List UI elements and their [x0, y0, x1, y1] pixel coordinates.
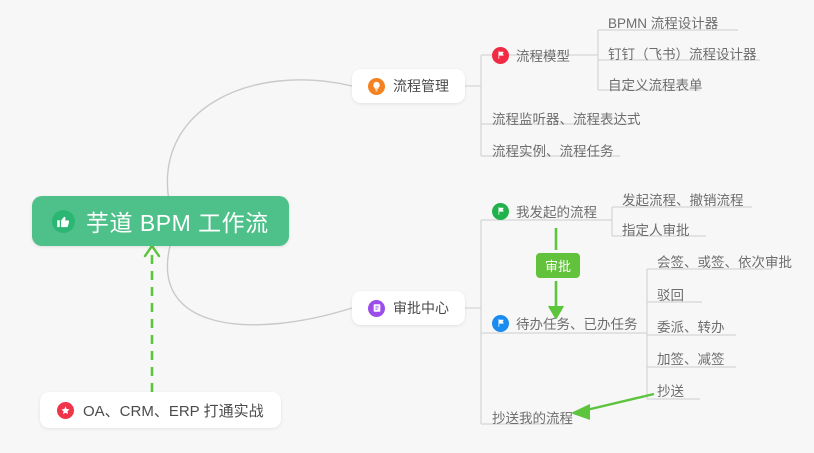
flag-icon [492, 203, 509, 220]
root-node[interactable]: 芋道 BPM 工作流 [32, 196, 289, 246]
node-custom-process-form[interactable]: 自定义流程表单 [606, 71, 705, 97]
node-instance-task[interactable]: 流程实例、流程任务 [490, 137, 616, 163]
node-process-model[interactable]: 流程模型 [490, 42, 572, 68]
dashed-arrow-note-to-root [145, 246, 159, 392]
flag-icon [492, 47, 509, 64]
node-label: 抄送 [657, 380, 684, 400]
node-start-cancel[interactable]: 发起流程、撤销流程 [620, 186, 746, 212]
node-listener-expression[interactable]: 流程监听器、流程表达式 [490, 105, 643, 131]
node-label: 委派、转办 [657, 316, 725, 336]
node-label: 流程模型 [516, 45, 570, 65]
link-root-to-approval-center [167, 246, 352, 325]
mindmap-canvas: 芋道 BPM 工作流 流程管理 流程模型 BPMN 流程设计器 钉钉（飞书）流程… [0, 0, 814, 453]
node-delegate-transfer[interactable]: 委派、转办 [655, 313, 727, 339]
approval-badge-label: 审批 [545, 256, 571, 275]
note-node-integration[interactable]: OA、CRM、ERP 打通实战 [40, 392, 281, 428]
node-label: 发起流程、撤销流程 [622, 189, 744, 209]
node-label: 会签、或签、依次审批 [657, 251, 792, 271]
node-cc-my-process[interactable]: 抄送我的流程 [490, 404, 575, 430]
link-root-to-process-management [167, 80, 352, 206]
node-label: 抄送我的流程 [492, 407, 573, 427]
node-assignee-approval[interactable]: 指定人审批 [620, 216, 692, 242]
node-reject[interactable]: 驳回 [655, 281, 686, 307]
node-label: 自定义流程表单 [608, 74, 703, 94]
branch-label: 审批中心 [393, 298, 449, 318]
lightbulb-icon [368, 78, 385, 95]
flag-icon [492, 315, 509, 332]
thumbs-up-icon [52, 210, 75, 233]
branch-process-management[interactable]: 流程管理 [352, 69, 465, 103]
node-cc-label[interactable]: 抄送 [655, 377, 686, 403]
green-arrow-cc [573, 394, 654, 419]
note-label: OA、CRM、ERP 打通实战 [83, 400, 264, 421]
node-dingtalk-feishu-designer[interactable]: 钉钉（飞书）流程设计器 [606, 40, 759, 66]
node-add-remove-sign[interactable]: 加签、减签 [655, 345, 727, 371]
node-bpmn-designer[interactable]: BPMN 流程设计器 [606, 9, 720, 35]
node-label: BPMN 流程设计器 [608, 12, 718, 32]
node-label: 钉钉（飞书）流程设计器 [608, 43, 757, 63]
node-countersign[interactable]: 会签、或签、依次审批 [655, 248, 794, 274]
node-my-initiated[interactable]: 我发起的流程 [490, 198, 599, 224]
node-label: 加签、减签 [657, 348, 725, 368]
node-todo-done-tasks[interactable]: 待办任务、已办任务 [490, 310, 640, 336]
node-label: 待办任务、已办任务 [516, 313, 638, 333]
clipboard-icon [368, 300, 385, 317]
root-label: 芋道 BPM 工作流 [86, 204, 269, 238]
approval-badge[interactable]: 审批 [536, 253, 580, 278]
node-label: 我发起的流程 [516, 201, 597, 221]
node-label: 指定人审批 [622, 219, 690, 239]
star-icon [57, 402, 74, 419]
node-label: 流程实例、流程任务 [492, 140, 614, 160]
node-label: 流程监听器、流程表达式 [492, 108, 641, 128]
branch-label: 流程管理 [393, 76, 449, 96]
branch-approval-center[interactable]: 审批中心 [352, 291, 465, 325]
node-label: 驳回 [657, 284, 684, 304]
